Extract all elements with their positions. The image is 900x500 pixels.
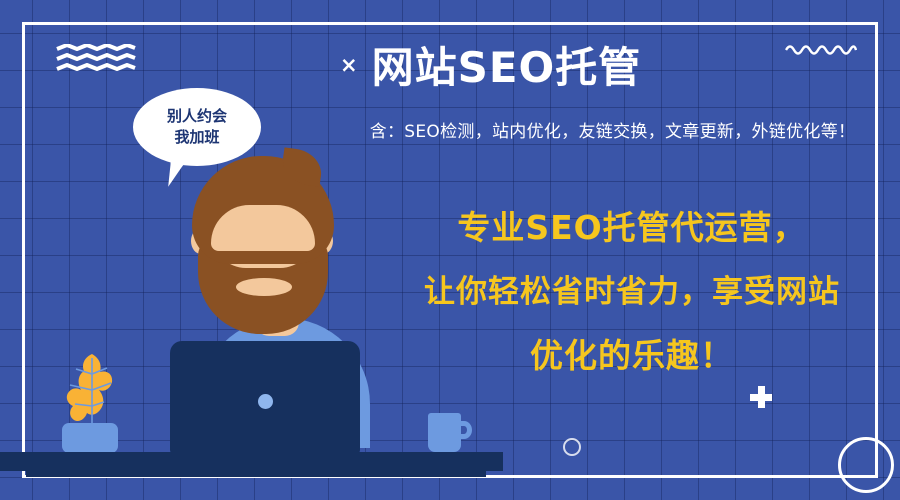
coffee-mug (428, 413, 461, 452)
title-x-mark: × (340, 55, 358, 82)
seo-promo-banner: × 网站SEO托管 含：SEO检测，站内优化，友链交换，文章更新，外链优化等！ … (0, 0, 900, 500)
title-row: × 网站SEO托管 (340, 46, 860, 90)
desk-front-edge (26, 471, 486, 477)
person-mouth (236, 278, 292, 296)
desk-surface (0, 452, 503, 471)
speech-bubble-line-2: 我加班 (174, 127, 219, 148)
plant-pot (62, 423, 118, 453)
small-circle-icon (563, 438, 581, 456)
plant-leaf-icon (63, 352, 121, 430)
wave-lines-icon (55, 44, 137, 74)
slogan-line-2: 让你轻松省时省力，享受网站 (386, 260, 878, 324)
person-forehead (211, 205, 315, 251)
page-title: 网站SEO托管 (372, 46, 642, 90)
slogan-line-3: 优化的乐趣！ (386, 324, 878, 388)
speech-bubble-line-1: 别人约会 (167, 106, 227, 127)
slogan-block: 专业SEO托管代运营， 让你轻松省时省力，享受网站 优化的乐趣！ (386, 196, 878, 388)
corner-circle-icon (838, 437, 894, 493)
subtitle-text: 含：SEO检测，站内优化，友链交换，文章更新，外链优化等！ (340, 117, 885, 142)
slogan-line-1: 专业SEO托管代运营， (386, 196, 878, 260)
laptop (170, 341, 360, 454)
plus-mark-icon (750, 386, 772, 408)
laptop-logo-icon (258, 394, 273, 409)
